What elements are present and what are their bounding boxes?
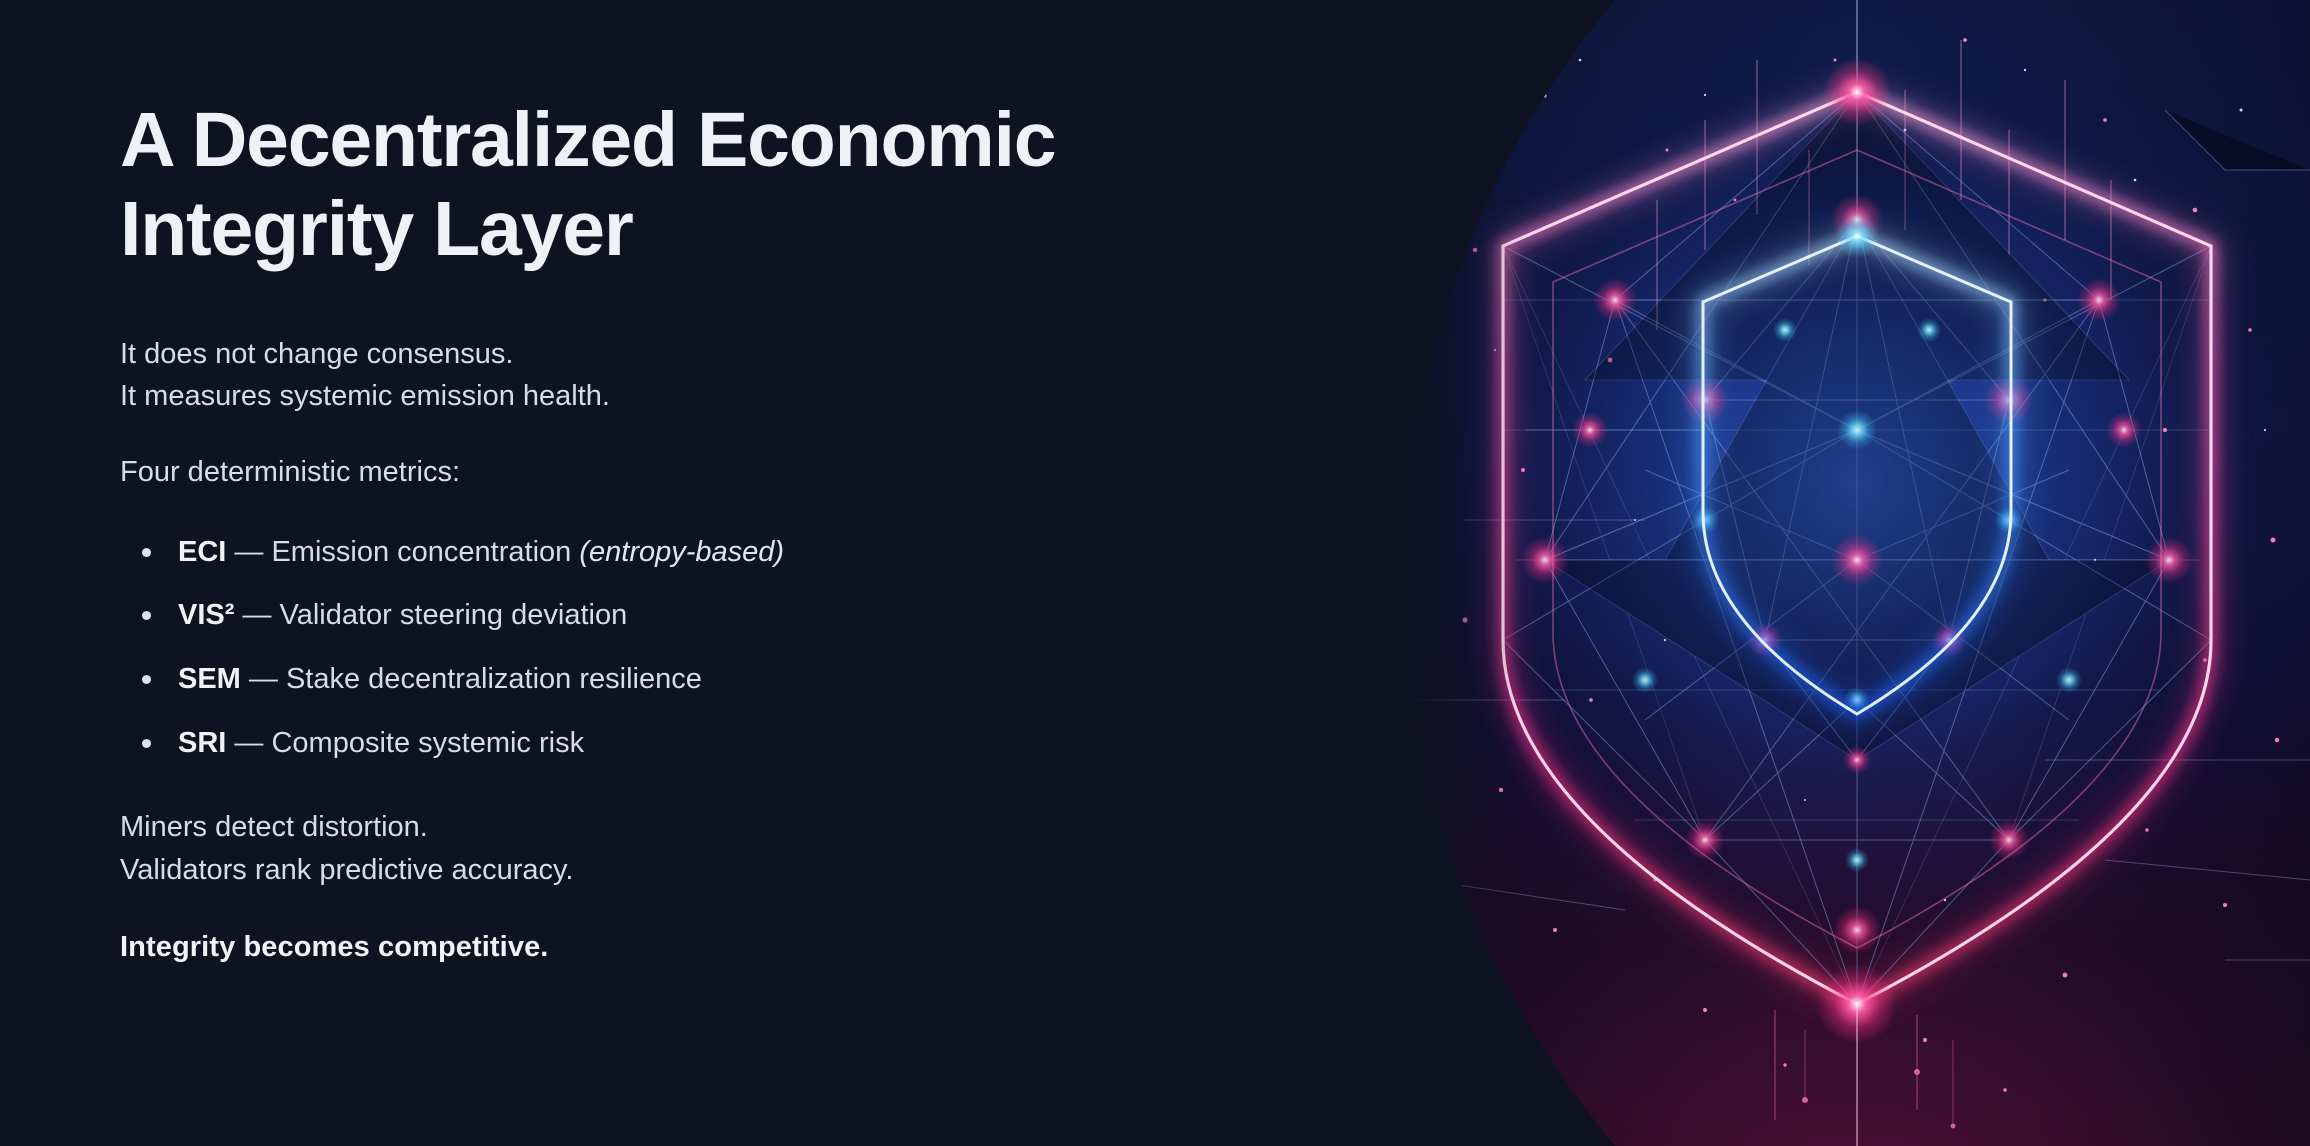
metric-dash: — xyxy=(234,536,263,568)
closing-paragraph: Miners detect distortion. Validators ran… xyxy=(120,806,1400,891)
list-item: ECI — Emission concentration (entropy-ba… xyxy=(120,534,1400,572)
list-item: SRI — Composite systemic risk xyxy=(120,725,1400,763)
closing-line-1: Miners detect distortion. xyxy=(120,806,1400,848)
lead-line-1: It does not change consensus. xyxy=(120,333,1400,375)
metric-abbr: VIS² xyxy=(178,599,234,631)
metrics-list: ECI — Emission concentration (entropy-ba… xyxy=(120,534,1400,763)
metric-abbr: ECI xyxy=(178,536,226,568)
metric-abbr: SRI xyxy=(178,727,226,759)
metric-dash: — xyxy=(234,727,263,759)
metrics-intro: Four deterministic metrics: xyxy=(120,451,1400,493)
lead-line-2: It measures systemic emission health. xyxy=(120,375,1400,417)
metric-dash: — xyxy=(249,663,278,695)
closing-line-2: Validators rank predictive accuracy. xyxy=(120,849,1400,891)
metric-desc: Stake decentralization resilience xyxy=(286,663,702,695)
neon-network-shield-illustration xyxy=(1405,0,2310,1146)
list-item: SEM — Stake decentralization resilience xyxy=(120,661,1400,699)
text-column: A Decentralized Economic Integrity Layer… xyxy=(0,0,1400,1146)
shield-artwork-panel xyxy=(1405,0,2310,1146)
list-item: VIS² — Validator steering deviation xyxy=(120,597,1400,635)
metric-desc: Composite systemic risk xyxy=(271,727,584,759)
metric-abbr: SEM xyxy=(178,663,241,695)
bullet-icon xyxy=(142,548,151,557)
metric-note: (entropy-based) xyxy=(579,536,784,568)
metric-desc: Validator steering deviation xyxy=(280,599,628,631)
lead-paragraph: It does not change consensus. It measure… xyxy=(120,333,1400,418)
kicker-statement: Integrity becomes competitive. xyxy=(120,931,1400,964)
bullet-icon xyxy=(142,675,151,684)
hero-slide: A Decentralized Economic Integrity Layer… xyxy=(0,0,2310,1146)
bullet-icon xyxy=(142,611,151,620)
metric-dash: — xyxy=(242,599,271,631)
bullet-icon xyxy=(142,739,151,748)
page-title: A Decentralized Economic Integrity Layer xyxy=(120,96,1270,275)
metric-desc: Emission concentration xyxy=(271,536,571,568)
